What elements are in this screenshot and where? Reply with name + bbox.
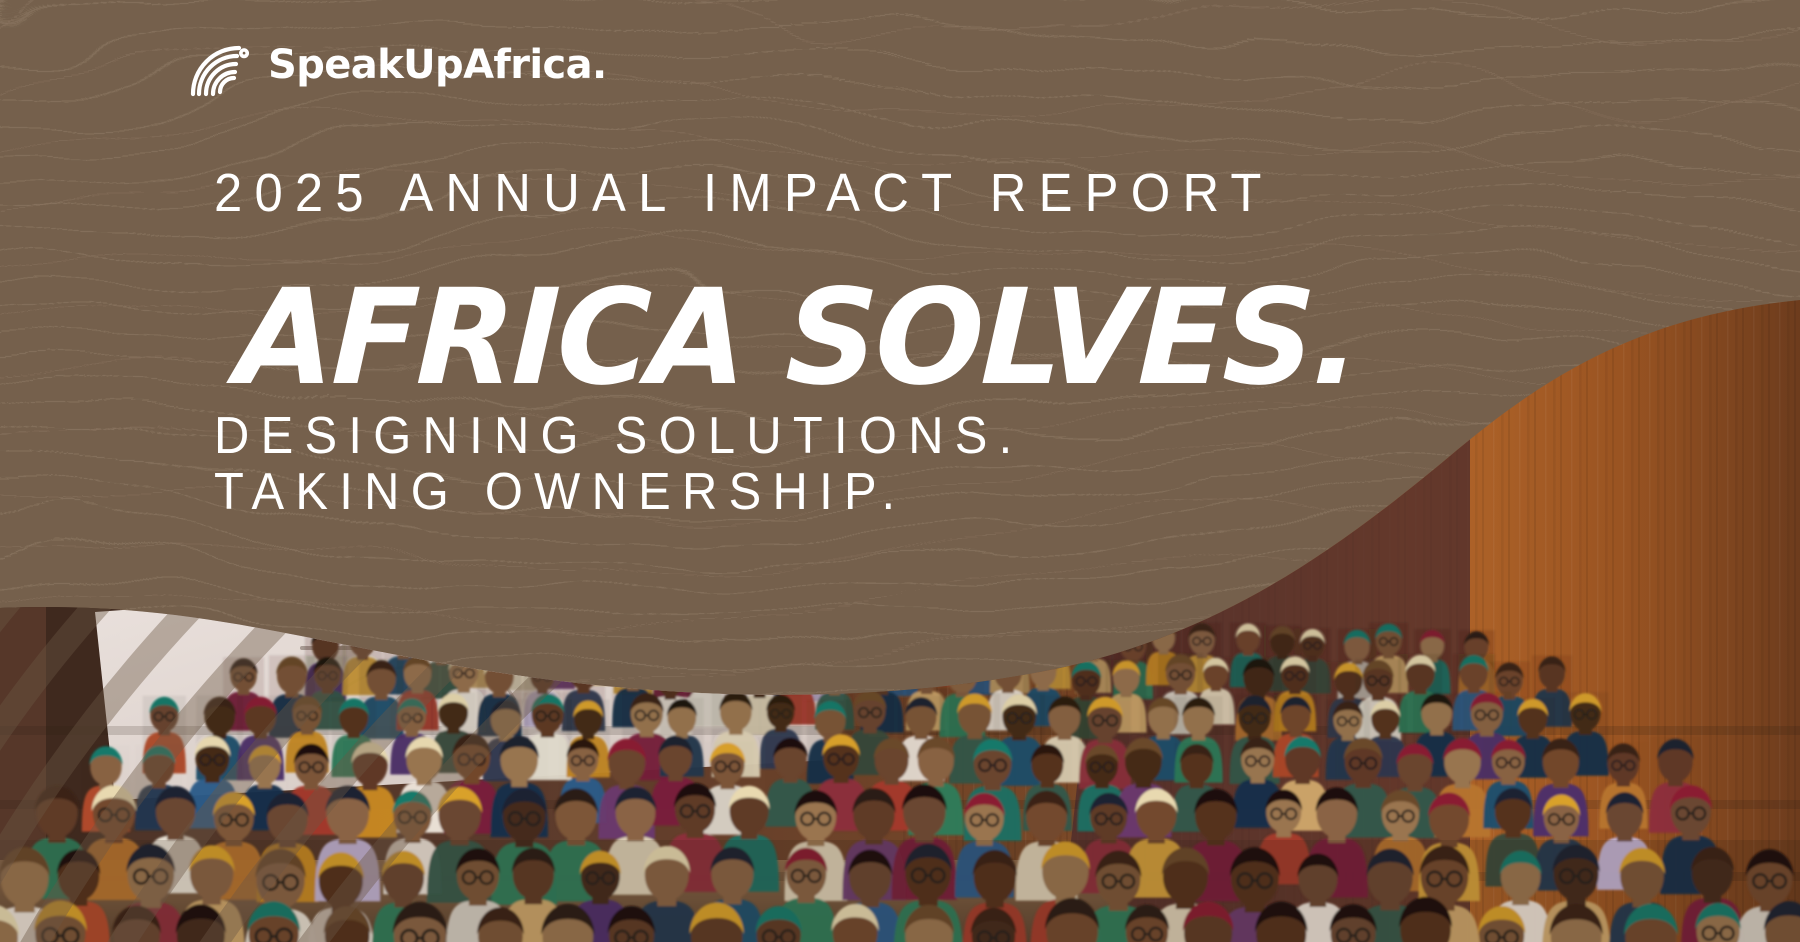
speakupafrica-logo[interactable]: SpeakUpAfrica. xyxy=(183,28,607,100)
report-cover: SpeakUpAfrica. 2025 ANNUAL IMPACT REPORT… xyxy=(0,0,1800,942)
cover-subtitle: DESIGNING SOLUTIONS. TAKING OWNERSHIP. xyxy=(214,408,1024,520)
subtitle-line-1: DESIGNING SOLUTIONS. xyxy=(214,408,1024,464)
subtitle-line-2: TAKING OWNERSHIP. xyxy=(214,464,1024,520)
page-title: AFRICA SOLVES. xyxy=(234,278,1360,399)
fingerprint-arcs-icon xyxy=(183,28,255,100)
report-eyebrow: 2025 ANNUAL IMPACT REPORT xyxy=(214,166,1274,220)
logo-wordmark: SpeakUpAfrica. xyxy=(268,45,607,85)
